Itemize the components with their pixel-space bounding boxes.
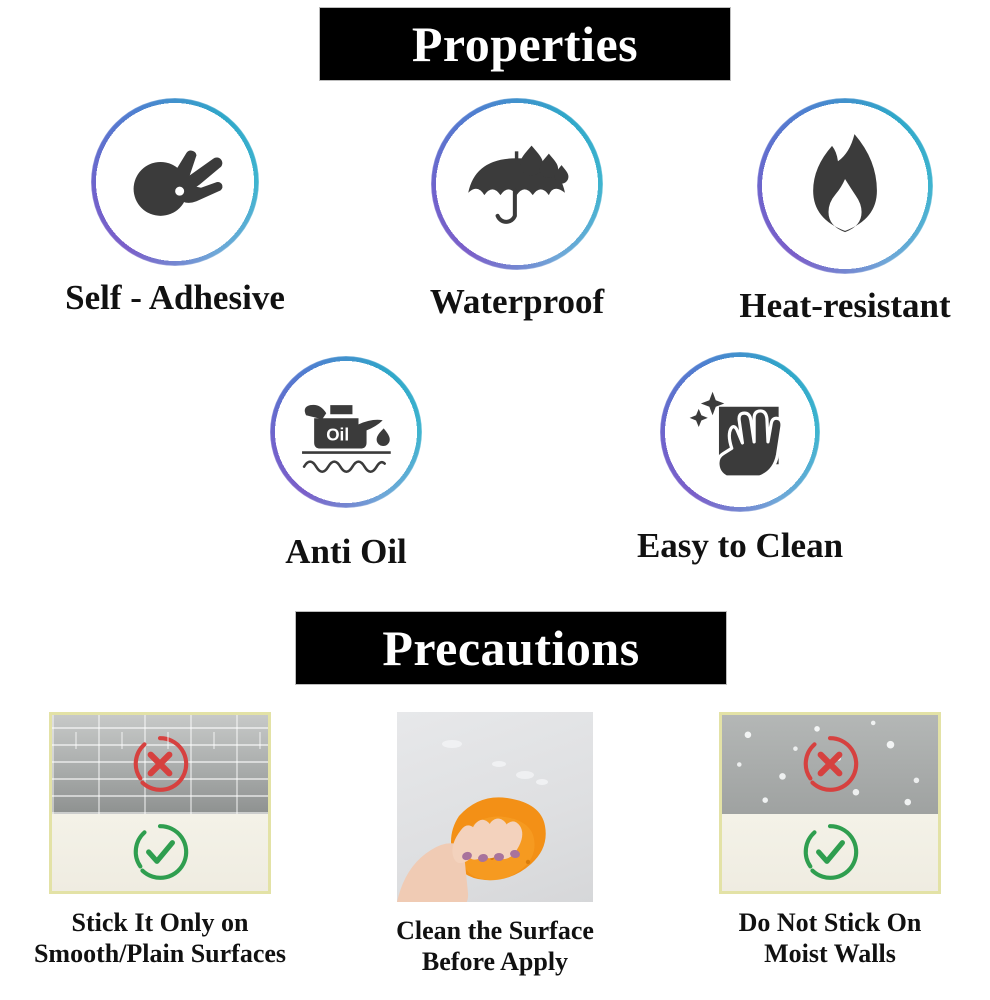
feature-label-waterproof: Waterproof — [430, 282, 604, 322]
precaution-clean-surface[interactable]: Clean the Surface Before Apply — [345, 712, 645, 977]
precaution-figure-smooth-surfaces — [49, 712, 271, 894]
feature-label-heat-resistant: Heat-resistant — [739, 286, 950, 326]
flame-icon — [786, 127, 904, 245]
hand-peeling-sticker-icon — [119, 126, 231, 238]
precaution-figure-moist-walls — [719, 712, 941, 894]
sparkle-icon — [689, 409, 707, 427]
hand-wiping-cloth-icon — [687, 379, 794, 486]
feature-circle-easy-to-clean — [660, 352, 820, 512]
precaution-moist-walls[interactable]: Do Not Stick On Moist Walls — [680, 712, 980, 969]
feature-circle-anti-oil: Oil — [270, 356, 422, 508]
moist-wall-texture — [722, 715, 938, 814]
caption-line-1: Stick It Only on — [34, 908, 286, 939]
green-check-icon — [799, 821, 861, 883]
brick-wall-texture — [52, 715, 268, 814]
feature-label-anti-oil: Anti Oil — [285, 532, 407, 572]
feature-circle-heat-resistant — [757, 98, 933, 274]
oil-can-icon: Oil — [296, 382, 397, 483]
precaution-figure-clean-surface — [397, 712, 593, 902]
sponge-and-hand-illustration — [397, 712, 593, 902]
section-title-precautions: Precautions — [382, 619, 639, 677]
precaution-caption-moist-walls: Do Not Stick On Moist Walls — [739, 908, 922, 969]
sparkle-icon — [701, 392, 724, 415]
precaution-smooth-surfaces[interactable]: Stick It Only on Smooth/Plain Surfaces — [10, 712, 310, 969]
section-title-properties: Properties — [412, 15, 638, 73]
section-banner-properties: Properties — [320, 8, 730, 80]
hand-with-orange-sponge-photo — [397, 712, 593, 902]
red-cross-icon — [799, 733, 861, 795]
feature-anti-oil[interactable]: Oil Anti Oil — [196, 356, 496, 572]
feature-label-easy-to-clean: Easy to Clean — [637, 526, 843, 566]
feature-circle-self-adhesive — [91, 98, 259, 266]
caption-line-1: Clean the Surface — [396, 916, 594, 947]
green-check-icon — [129, 821, 191, 883]
red-cross-icon — [129, 733, 191, 795]
feature-heat-resistant[interactable]: Heat-resistant — [700, 98, 990, 326]
feature-label-self-adhesive: Self - Adhesive — [65, 278, 285, 318]
feature-circle-waterproof — [431, 98, 603, 270]
caption-line-2: Before Apply — [396, 947, 594, 978]
caption-line-1: Do Not Stick On — [739, 908, 922, 939]
precaution-caption-clean-surface: Clean the Surface Before Apply — [396, 916, 594, 977]
feature-self-adhesive[interactable]: Self - Adhesive — [20, 98, 330, 318]
umbrella-raindrops-icon — [459, 126, 574, 241]
oil-can-label: Oil — [326, 424, 349, 444]
feature-waterproof[interactable]: Waterproof — [362, 98, 672, 322]
precaution-caption-smooth-surfaces: Stick It Only on Smooth/Plain Surfaces — [34, 908, 286, 969]
smooth-wall-texture — [722, 814, 938, 891]
caption-line-2: Smooth/Plain Surfaces — [34, 939, 286, 970]
caption-line-2: Moist Walls — [739, 939, 922, 970]
feature-easy-to-clean[interactable]: Easy to Clean — [560, 352, 920, 566]
smooth-wall-texture — [52, 814, 268, 891]
section-banner-precautions: Precautions — [296, 612, 726, 684]
